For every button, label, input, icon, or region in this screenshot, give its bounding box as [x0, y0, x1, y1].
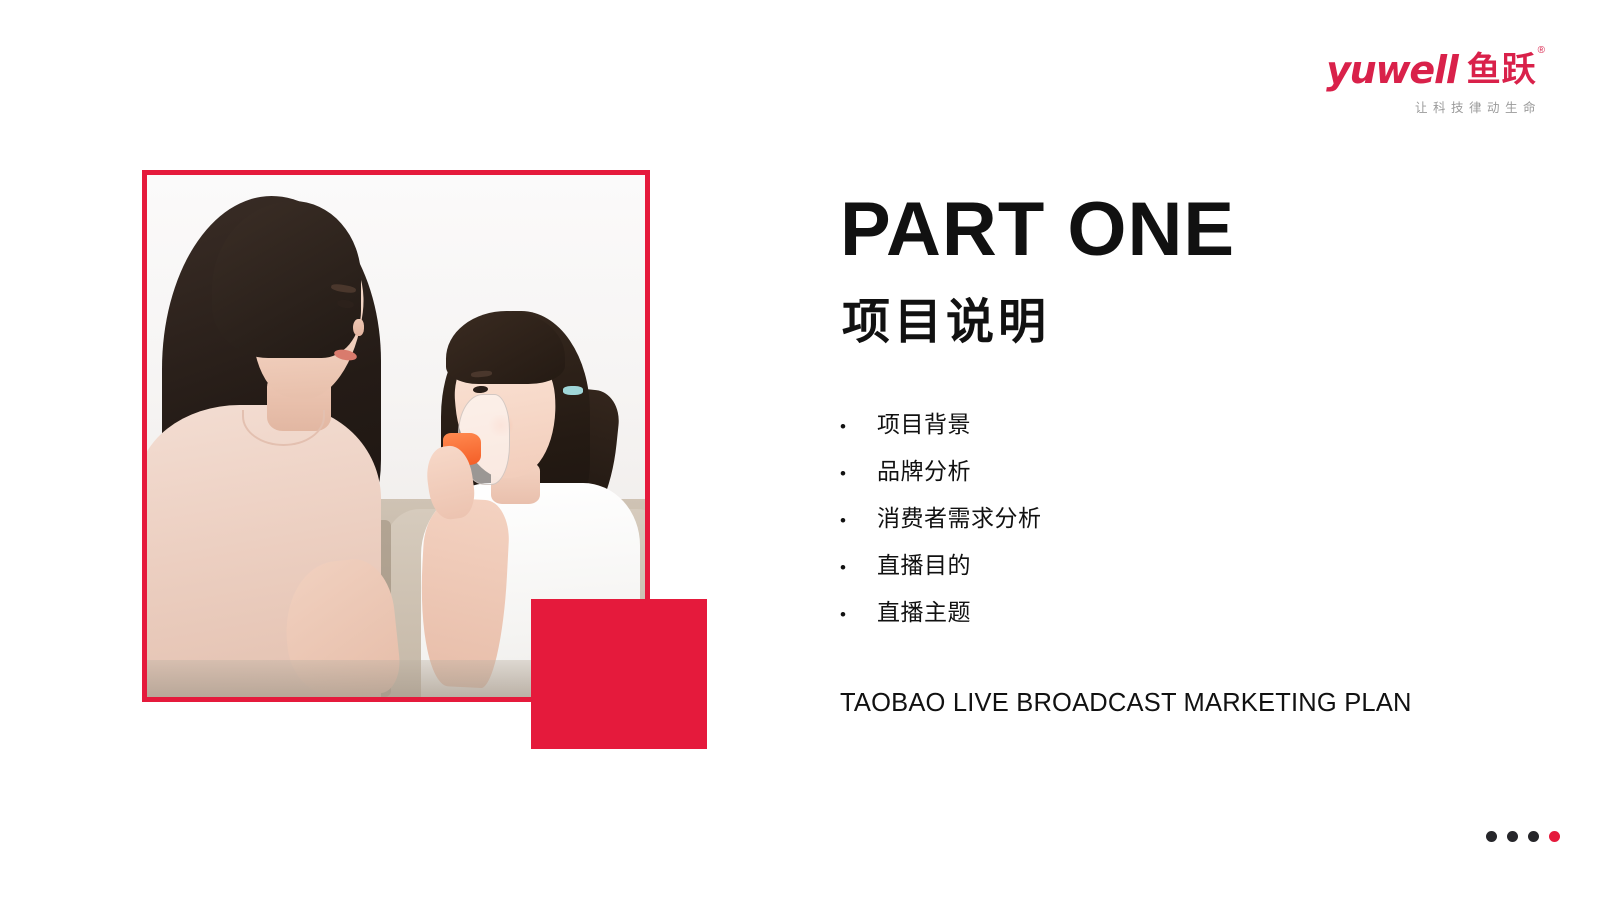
logo-tagline: 让科技律动生命 [1295, 97, 1545, 116]
bullet-icon: • [840, 601, 856, 629]
page-subtitle: 项目说明 [842, 290, 1500, 354]
content-column: PART ONE 项目说明 • 项目背景 • 品牌分析 • 消费者需求分析 • … [840, 186, 1500, 719]
logo-wordmark: yuwell [1326, 50, 1458, 90]
list-item[interactable]: • 直播目的 [840, 552, 1500, 599]
list-item[interactable]: • 直播主题 [840, 599, 1500, 646]
bullet-icon: • [840, 554, 856, 582]
list-item-label: 品牌分析 [877, 458, 971, 486]
agenda-list: • 项目背景 • 品牌分析 • 消费者需求分析 • 直播目的 • 直播主题 [840, 411, 1500, 646]
logo-lockup: yuwell 鱼跃 ® [1295, 44, 1545, 90]
list-item[interactable]: • 品牌分析 [840, 458, 1500, 505]
list-item-label: 消费者需求分析 [877, 505, 1042, 533]
pagination-dot-4[interactable] [1549, 831, 1560, 842]
list-item-label: 项目背景 [877, 411, 971, 439]
bullet-icon: • [840, 413, 856, 441]
pagination-dot-2[interactable] [1507, 831, 1518, 842]
list-item-label: 直播主题 [877, 599, 971, 627]
decorative-red-square [531, 599, 707, 749]
bullet-icon: • [840, 507, 856, 535]
registered-trademark-icon: ® [1538, 46, 1545, 56]
pagination-dots[interactable] [1486, 831, 1560, 842]
list-item[interactable]: • 消费者需求分析 [840, 505, 1500, 552]
photo-mother-nose [353, 319, 364, 337]
slide-canvas: yuwell 鱼跃 ® 让科技律动生命 [0, 0, 1600, 900]
pagination-dot-3[interactable] [1528, 831, 1539, 842]
slide-footer-text: TAOBAO LIVE BROADCAST MARKETING PLAN [840, 687, 1500, 719]
photo-child-hair-tie [563, 386, 583, 394]
bullet-icon: • [840, 460, 856, 488]
logo-chinese-name: 鱼跃 [1467, 50, 1537, 90]
list-item[interactable]: • 项目背景 [840, 411, 1500, 458]
pagination-dot-1[interactable] [1486, 831, 1497, 842]
page-title: PART ONE [840, 186, 1500, 274]
brand-logo: yuwell 鱼跃 ® 让科技律动生命 [1295, 44, 1545, 116]
list-item-label: 直播目的 [877, 552, 971, 580]
